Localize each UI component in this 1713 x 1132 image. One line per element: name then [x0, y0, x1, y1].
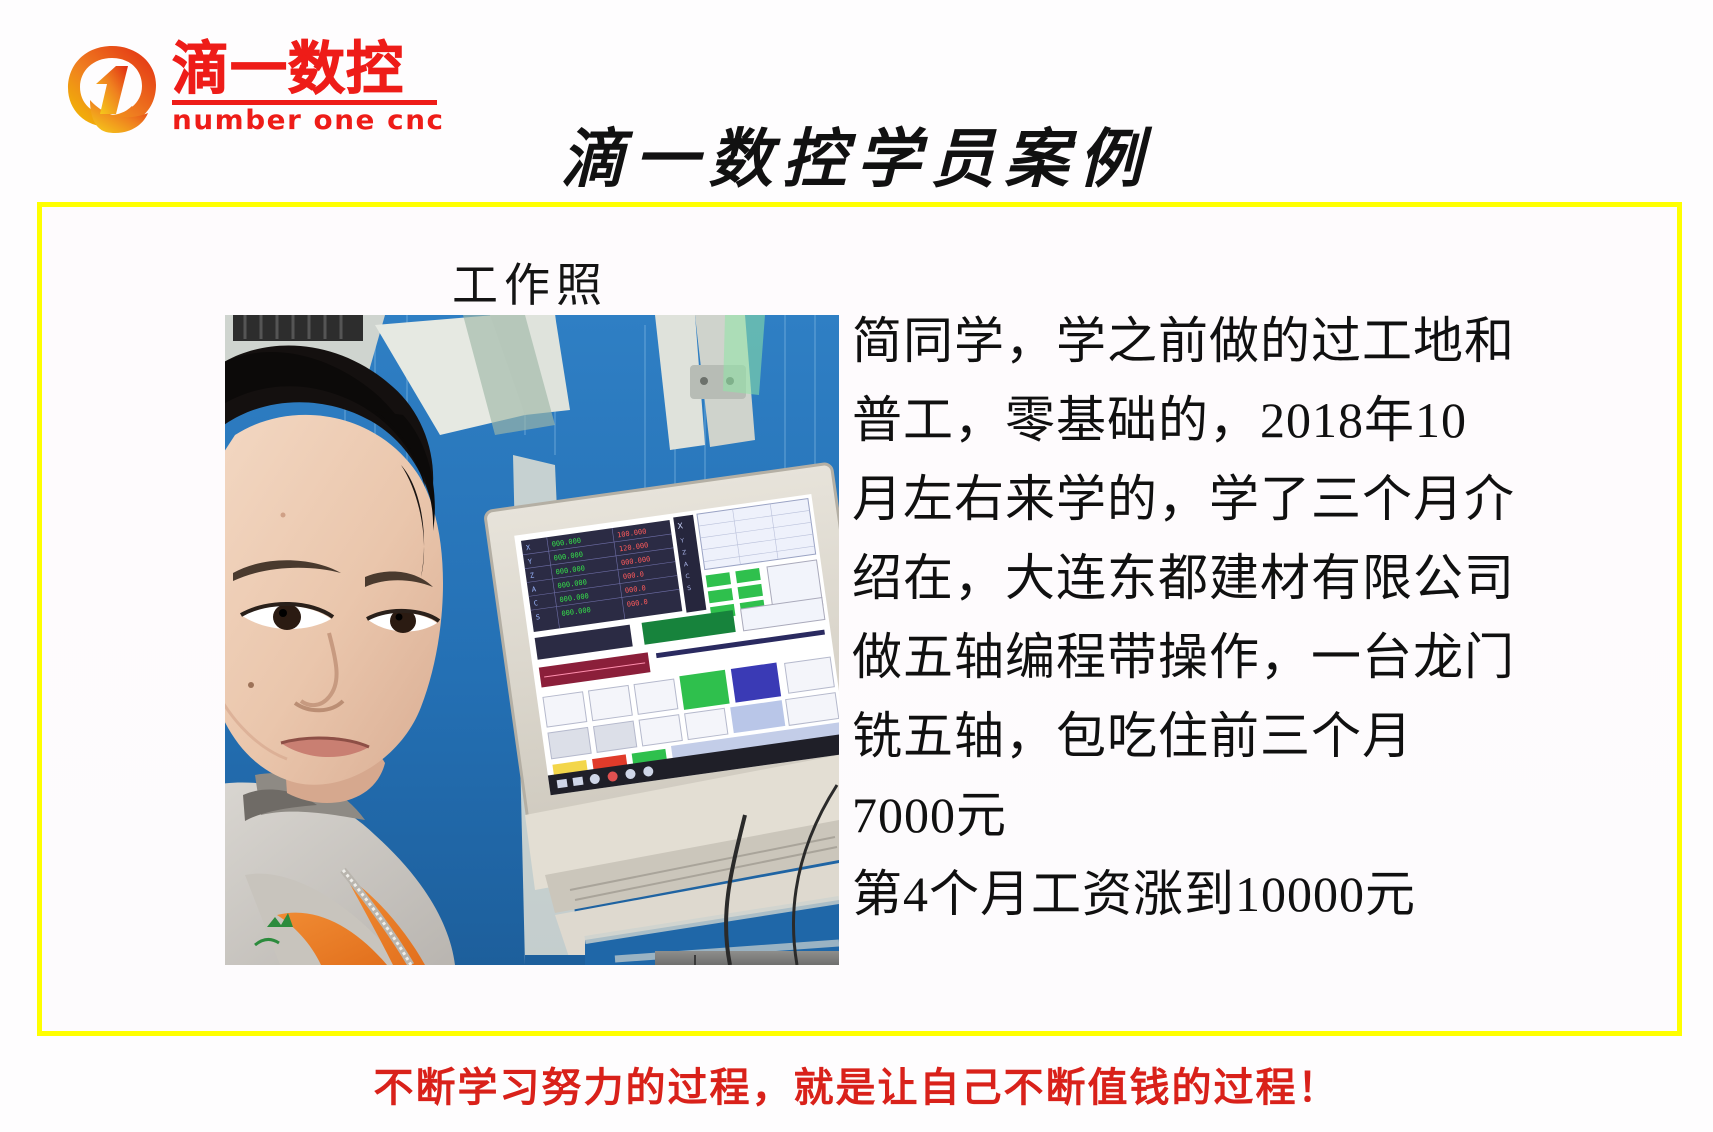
- story-line: 第4个月工资涨到10000元: [852, 855, 1542, 934]
- story-line: 绍在，大连东都建材有限公司: [852, 539, 1542, 618]
- page-header: 滴一数控 number one cnc 滴一数控学员案例: [0, 0, 1713, 200]
- student-story: 简同学，学之前做的过工地和 普工，零基础的，2018年10 月左右来学的，学了三…: [852, 302, 1542, 934]
- story-line: 月左右来学的，学了三个月介: [852, 460, 1542, 539]
- story-line: 铣五轴，包吃住前三个月: [852, 697, 1542, 776]
- student-work-photo: X Y Z A C S 000.000 000.000 000.000 000.…: [225, 315, 839, 965]
- story-line: 7000元: [852, 776, 1542, 855]
- page-title: 滴一数控学员案例: [0, 108, 1713, 200]
- case-card: 工作照: [37, 202, 1682, 1036]
- story-line: 简同学，学之前做的过工地和: [852, 302, 1542, 381]
- story-line: 普工，零基础的，2018年10: [852, 381, 1542, 460]
- story-line: 做五轴编程带操作，一台龙门: [852, 618, 1542, 697]
- brand-name-cn: 滴一数控: [172, 42, 404, 97]
- footer-slogan: 不断学习努力的过程，就是让自己不断值钱的过程！: [0, 1055, 1713, 1113]
- photo-caption: 工作照: [452, 249, 608, 315]
